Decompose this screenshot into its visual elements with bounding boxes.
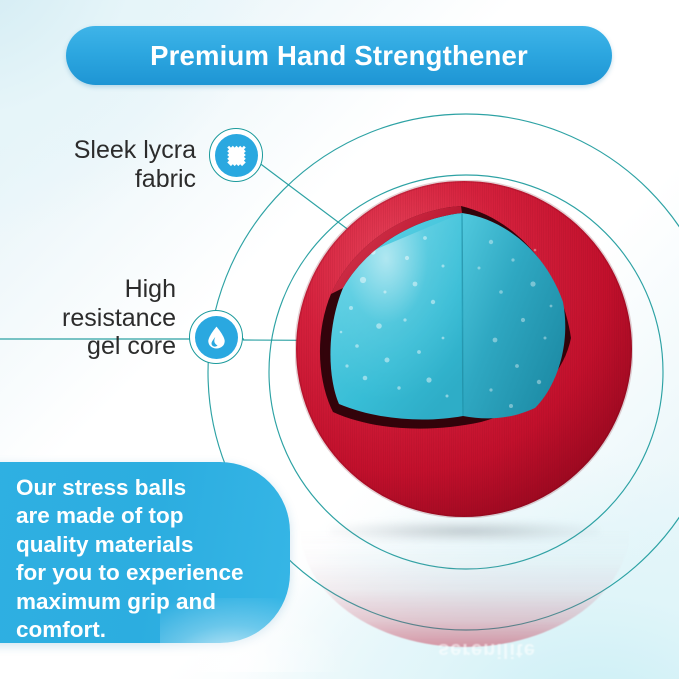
stress-ball-cutaway-graphic xyxy=(295,180,633,518)
callout-label-sleek-lycra-fabric: Sleek lycra fabric xyxy=(8,136,196,193)
info-panel-text: Our stress balls are made of top quality… xyxy=(16,474,278,645)
callout-label-high-resistance-gel-core: High resistance gel core xyxy=(8,275,176,361)
fabric-swatch-icon xyxy=(223,142,250,169)
page-title: Premium Hand Strengthener xyxy=(150,40,528,72)
badge-disc-fabric xyxy=(215,134,258,177)
brand-watermark: serenilite xyxy=(438,638,536,661)
page-title-banner: Premium Hand Strengthener xyxy=(66,26,612,85)
callout-badge-gel-core xyxy=(189,310,243,364)
water-droplet-icon xyxy=(204,325,229,350)
callout-badge-fabric xyxy=(209,128,263,182)
product-image-stress-ball xyxy=(295,180,679,570)
infographic-canvas: Premium Hand Strengthener Sleek lycra fa… xyxy=(0,0,679,679)
info-panel: Our stress balls are made of top quality… xyxy=(0,462,290,643)
badge-disc-gel xyxy=(195,316,238,359)
